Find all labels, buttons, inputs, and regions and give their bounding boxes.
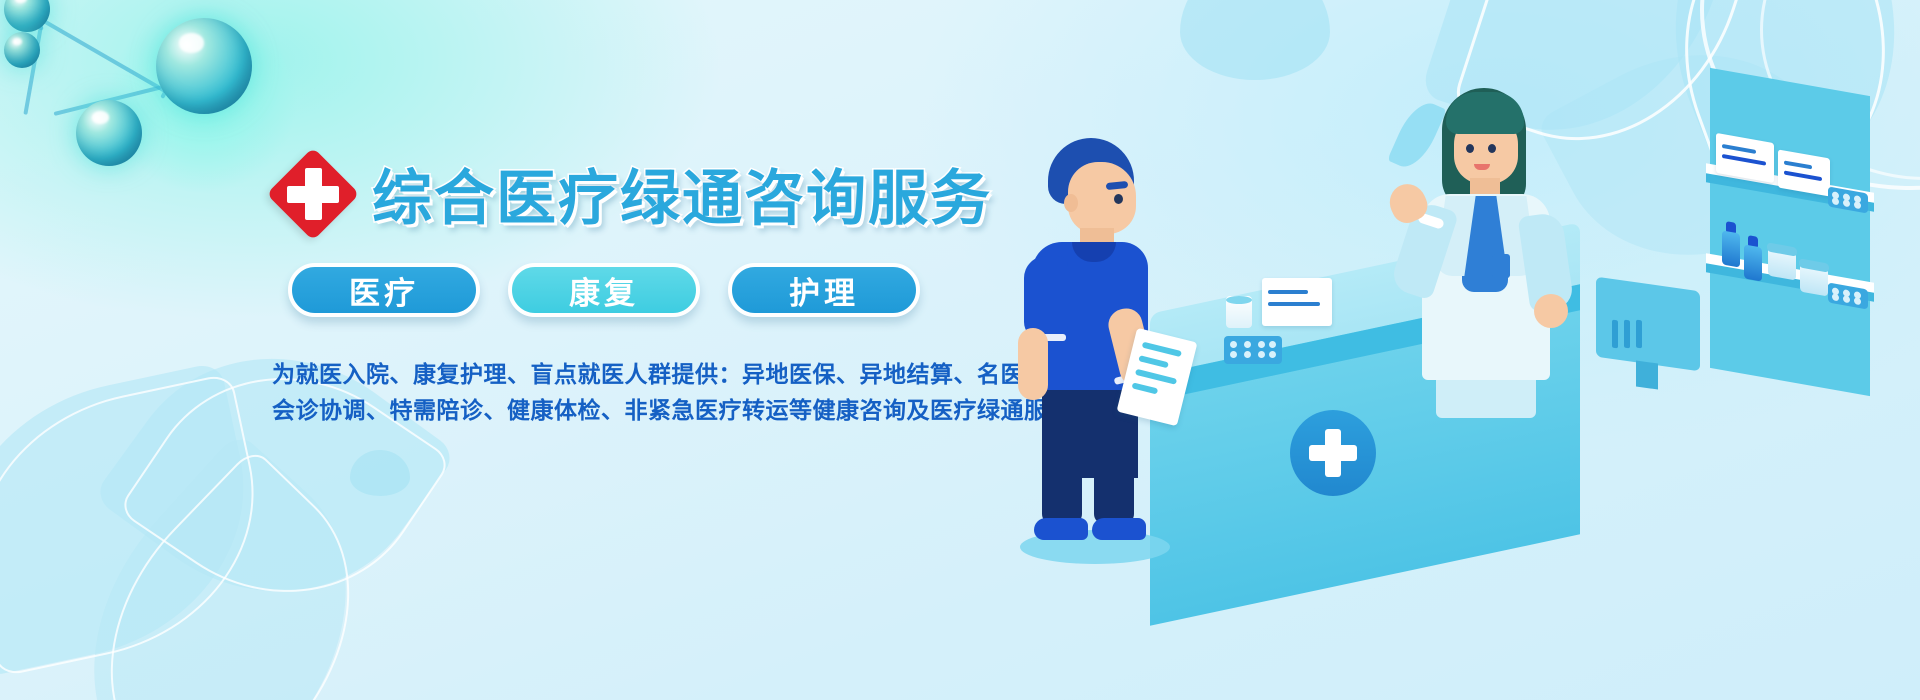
service-tag-nursing[interactable]: 护理 [728,263,920,317]
page-title: 综合医疗绿通咨询服务 [372,150,992,237]
service-tag-list: 医疗 康复 护理 [288,263,1012,317]
counter-medicine-box [1262,278,1332,326]
measuring-cup [1226,296,1252,328]
description-line-1: 为就医入院、康复护理、盲点就医人群提供：异地医保、异地结算、名医预约 [272,357,1012,393]
dropper-bottle [1722,220,1740,269]
description-line-2: 会诊协调、特需陪诊、健康体检、非紧急医疗转运等健康咨询及医疗绿通服务。 [272,393,1012,429]
service-tag-medical[interactable]: 医疗 [288,263,480,317]
healthcare-banner: 综合医疗绿通咨询服务 医疗 康复 护理 为就医入院、康复护理、盲点就医人群提供：… [0,0,1920,700]
pharmacy-counter-illustration [1000,0,1920,700]
banner-content: 综合医疗绿通咨询服务 医疗 康复 护理 为就医入院、康复护理、盲点就医人群提供：… [272,150,1012,429]
counter-pill-blister [1224,336,1282,364]
monitor [1596,284,1712,394]
male-patient-figure [1010,138,1180,498]
service-tag-rehabilitation[interactable]: 康复 [508,263,700,317]
title-row: 综合医疗绿通咨询服务 [272,150,1012,237]
pharmacist-badge [1492,254,1510,278]
dropper-bottle-2 [1744,234,1762,283]
red-cross-diamond-icon [272,153,354,235]
medicine-jar-2 [1800,264,1828,297]
pharmacy-shelf [1700,82,1910,412]
female-pharmacist-figure [1396,88,1586,418]
banner-description: 为就医入院、康复护理、盲点就医人群提供：异地医保、异地结算、名医预约 会诊协调、… [272,357,1012,429]
medicine-jar [1768,248,1796,281]
medical-cross-circle-icon [1290,410,1376,496]
